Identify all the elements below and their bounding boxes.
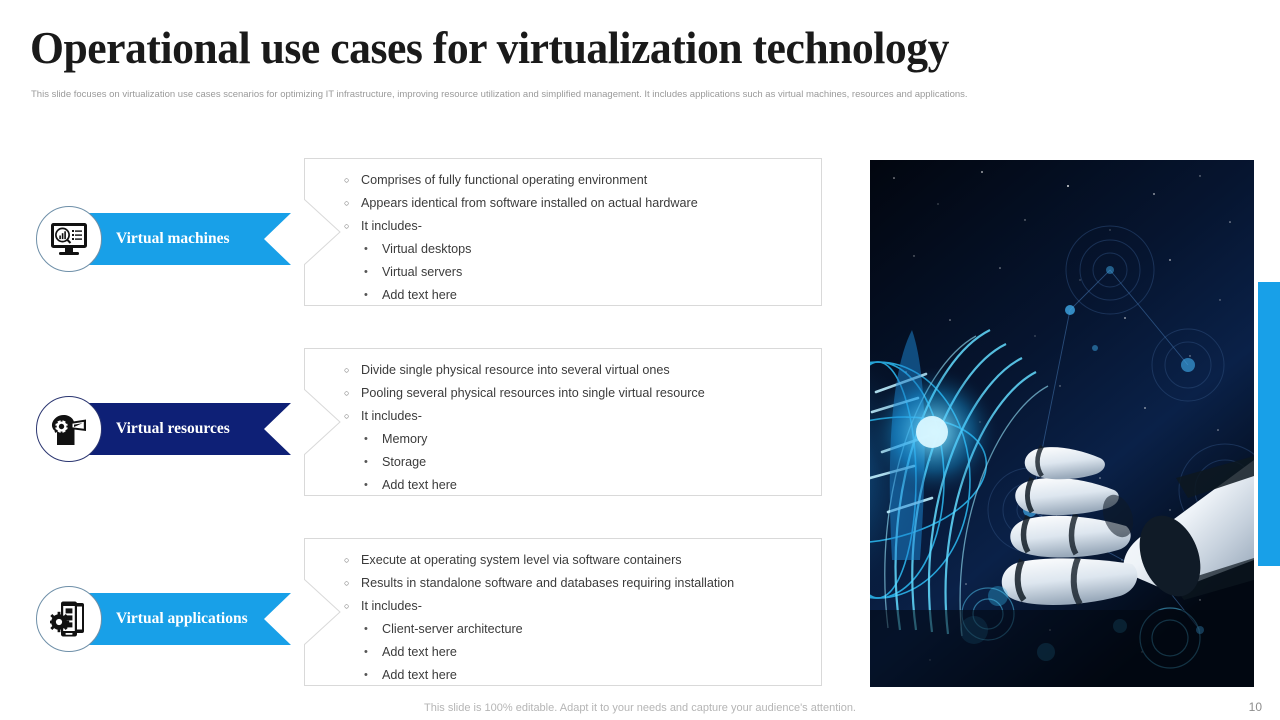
bullet-subitem: Add text here	[344, 284, 810, 307]
bullet-subitem: Virtual servers	[344, 261, 810, 284]
content-card-text: Execute at operating system level via so…	[304, 538, 822, 686]
bullet-subitem: Add text here	[344, 474, 810, 497]
page-title: Operational use cases for virtualization…	[30, 22, 949, 74]
content-card-text: Comprises of fully functional operating …	[304, 158, 822, 306]
right-accent-bar	[1258, 282, 1280, 566]
app-gear-icon	[50, 600, 88, 638]
use-case-row-virtual-machines: Comprises of fully functional operating …	[0, 158, 860, 318]
robotic-hand-technology-photo	[870, 160, 1254, 687]
page-subtitle: This slide focuses on virtualization use…	[31, 88, 1151, 101]
page-number: 10	[1249, 700, 1262, 714]
head-vr-gear-icon	[49, 412, 89, 446]
slide-canvas: Operational use cases for virtualization…	[0, 0, 1280, 720]
use-case-row-virtual-applications: Execute at operating system level via so…	[0, 538, 860, 698]
bullet-subitem: Storage	[344, 451, 810, 474]
head-vr-gear-icon-badge	[36, 396, 102, 462]
bullet-item: Pooling several physical resources into …	[344, 382, 810, 405]
monitor-chart-icon	[50, 222, 88, 256]
bullet-item: Results in standalone software and datab…	[344, 572, 810, 595]
bullet-subitem: Virtual desktops	[344, 238, 810, 261]
content-card-text: Divide single physical resource into sev…	[304, 348, 822, 496]
bullet-subitem: Client-server architecture	[344, 618, 810, 641]
category-label: Virtual applications	[116, 610, 248, 628]
category-label: Virtual machines	[116, 230, 230, 248]
bullet-subitem: Add text here	[344, 664, 810, 687]
monitor-chart-icon-badge	[36, 206, 102, 272]
category-label: Virtual resources	[116, 420, 230, 438]
bullet-item: It includes-	[344, 595, 810, 618]
bullet-subitem: Memory	[344, 428, 810, 451]
footer-note: This slide is 100% editable. Adapt it to…	[0, 702, 1280, 714]
bullet-item: Divide single physical resource into sev…	[344, 359, 810, 382]
bullet-item: Execute at operating system level via so…	[344, 549, 810, 572]
use-case-row-virtual-resources: Divide single physical resource into sev…	[0, 348, 860, 508]
bullet-item: Comprises of fully functional operating …	[344, 169, 810, 192]
bullet-item: It includes-	[344, 215, 810, 238]
bullet-subitem: Add text here	[344, 641, 810, 664]
app-gear-icon-badge	[36, 586, 102, 652]
bullet-item: Appears identical from software installe…	[344, 192, 810, 215]
bullet-item: It includes-	[344, 405, 810, 428]
